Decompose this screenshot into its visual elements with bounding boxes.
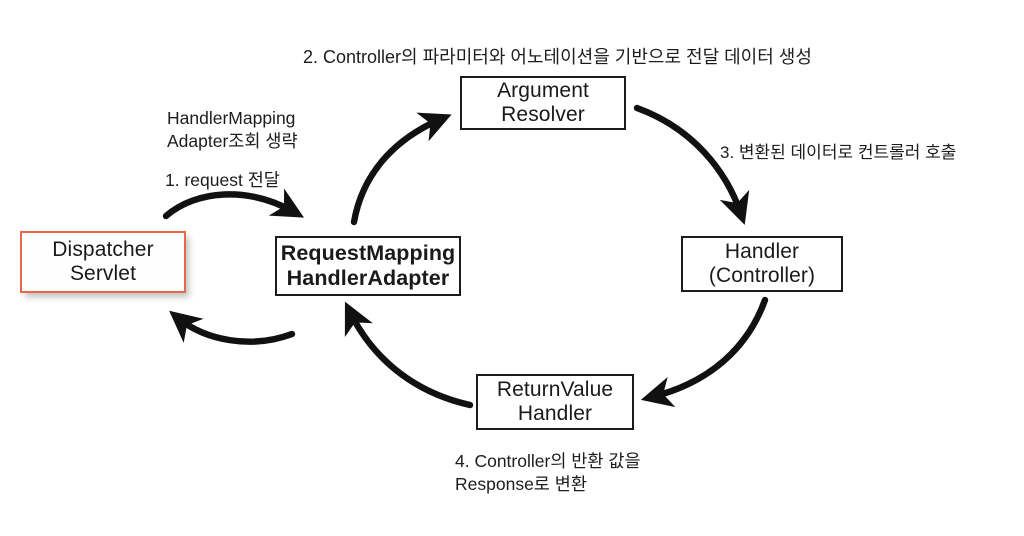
node-return-value-handler[interactable]: ReturnValue Handler [476, 374, 634, 430]
node-request-mapping-handler-adapter[interactable]: RequestMapping HandlerAdapter [275, 236, 461, 296]
node-argument-resolver-label: Argument Resolver [497, 79, 589, 128]
label-step-3: 3. 변환된 데이터로 컨트롤러 호출 [720, 142, 956, 164]
arrow-adapter-to-argument-resolver [354, 119, 441, 222]
arrow-handler-to-return-value-handler [652, 300, 765, 397]
label-step-2: 2. Controller의 파라미터와 어노테이션을 기반으로 전달 데이터 … [303, 46, 812, 70]
label-handler-mapping-note: HandlerMapping Adapter조회 생략 [167, 107, 298, 153]
label-step-4: 4. Controller의 반환 값을 Response로 변환 [455, 450, 641, 496]
node-argument-resolver[interactable]: Argument Resolver [460, 76, 626, 130]
arrow-dispatcher-to-adapter [166, 194, 294, 216]
node-handler-controller-label: Handler (Controller) [709, 240, 815, 289]
node-return-value-handler-label: ReturnValue Handler [497, 378, 613, 427]
label-step-1: 1. request 전달 [165, 169, 280, 192]
arrow-return-value-handler-to-adapter [350, 312, 470, 405]
node-dispatcher-servlet[interactable]: Dispatcher Servlet [20, 231, 186, 293]
node-request-mapping-handler-adapter-label: RequestMapping HandlerAdapter [281, 241, 456, 291]
arrow-adapter-to-dispatcher [178, 318, 292, 342]
node-handler-controller[interactable]: Handler (Controller) [681, 236, 843, 292]
diagram-canvas: Dispatcher Servlet RequestMapping Handle… [0, 0, 1024, 536]
node-dispatcher-servlet-label: Dispatcher Servlet [52, 238, 153, 287]
